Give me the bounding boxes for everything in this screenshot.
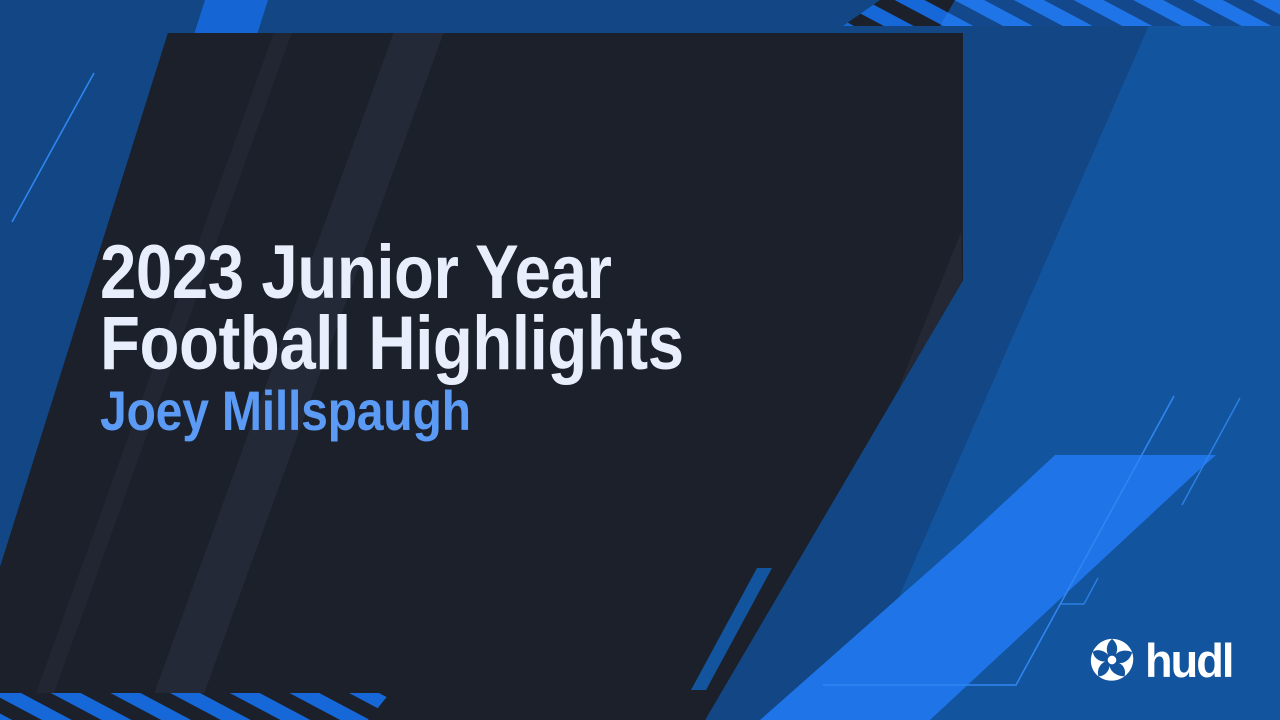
title-line-2: Football Highlights (100, 309, 805, 380)
title-block: 2023 Junior Year Football Highlights Joe… (100, 238, 920, 439)
title-line-1: 2023 Junior Year (100, 238, 805, 309)
hudl-logo: hudl (1088, 636, 1236, 684)
hudl-wordmark: hudl (1145, 637, 1233, 684)
highlight-title-card: 2023 Junior Year Football Highlights Joe… (0, 0, 1280, 720)
athlete-name: Joey Millspaugh (100, 383, 805, 439)
hudl-logo-mark (1088, 636, 1136, 684)
